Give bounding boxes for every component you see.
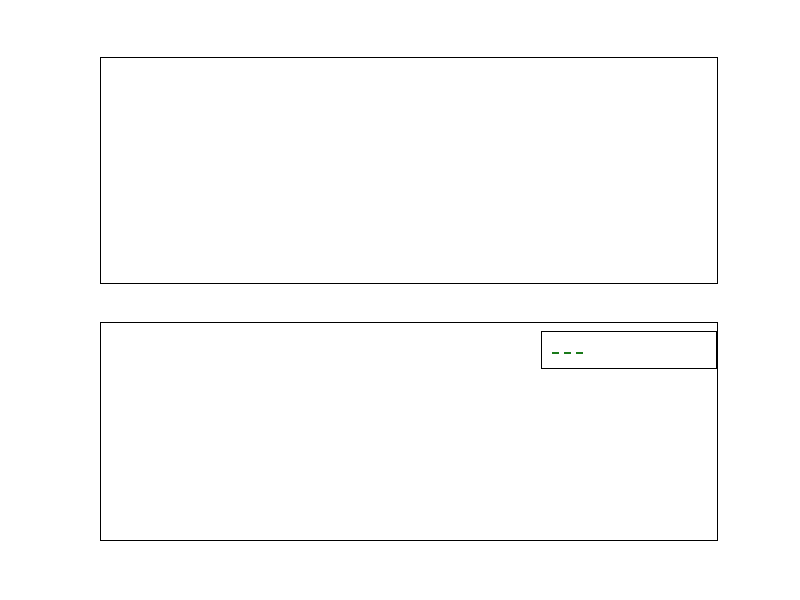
legend bbox=[541, 331, 717, 369]
top-histogram-axes bbox=[100, 57, 718, 284]
mag-limit-legend-swatch bbox=[551, 344, 587, 356]
histogram-plot-area bbox=[101, 58, 717, 283]
figure bbox=[0, 0, 800, 600]
